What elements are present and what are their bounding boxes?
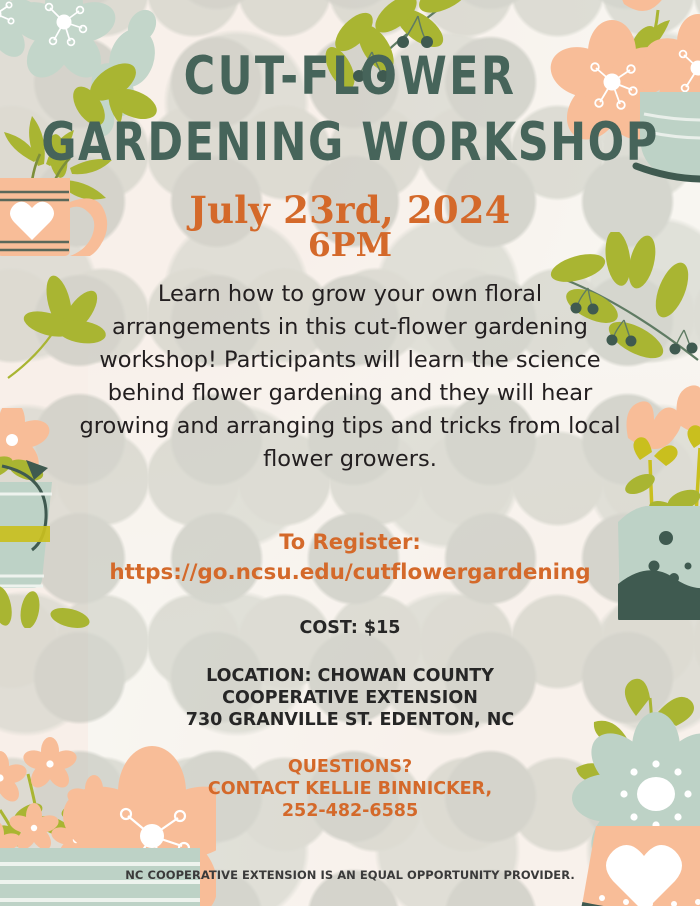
questions-block: QUESTIONS? CONTACT KELLIE BINNICKER, 252… [0, 756, 700, 822]
event-datetime: July 23rd, 2024 6PM [0, 192, 700, 262]
event-time: 6PM [0, 228, 700, 263]
location-block: LOCATION: CHOWAN COUNTY COOPERATIVE EXTE… [0, 665, 700, 731]
contact-name: CONTACT KELLIE BINNICKER, [0, 778, 700, 800]
title-line-1: CUT-FLOWER [0, 51, 700, 105]
contact-phone: 252-482-6585 [0, 800, 700, 822]
questions-label: QUESTIONS? [0, 756, 700, 778]
location-line-2: COOPERATIVE EXTENSION [0, 687, 700, 709]
register-url[interactable]: https://go.ncsu.edu/cutflowergardening [20, 557, 680, 589]
register-label: To Register: [20, 527, 680, 557]
event-description: Learn how to grow your own floral arrang… [78, 278, 622, 476]
equal-opportunity-footer: NC COOPERATIVE EXTENSION IS AN EQUAL OPP… [0, 868, 700, 882]
flyer-title: CUT-FLOWER GARDENING WORKSHOP [0, 56, 700, 166]
location-line-1: LOCATION: CHOWAN COUNTY [0, 665, 700, 687]
registration-block: To Register: https://go.ncsu.edu/cutflow… [20, 527, 680, 589]
title-line-2: GARDENING WORKSHOP [0, 117, 700, 171]
location-line-3: 730 GRANVILLE ST. EDENTON, NC [0, 709, 700, 731]
cost-text: COST: $15 [0, 618, 700, 638]
flyer-canvas: CUT-FLOWER GARDENING WORKSHOP July 23rd,… [0, 0, 700, 906]
